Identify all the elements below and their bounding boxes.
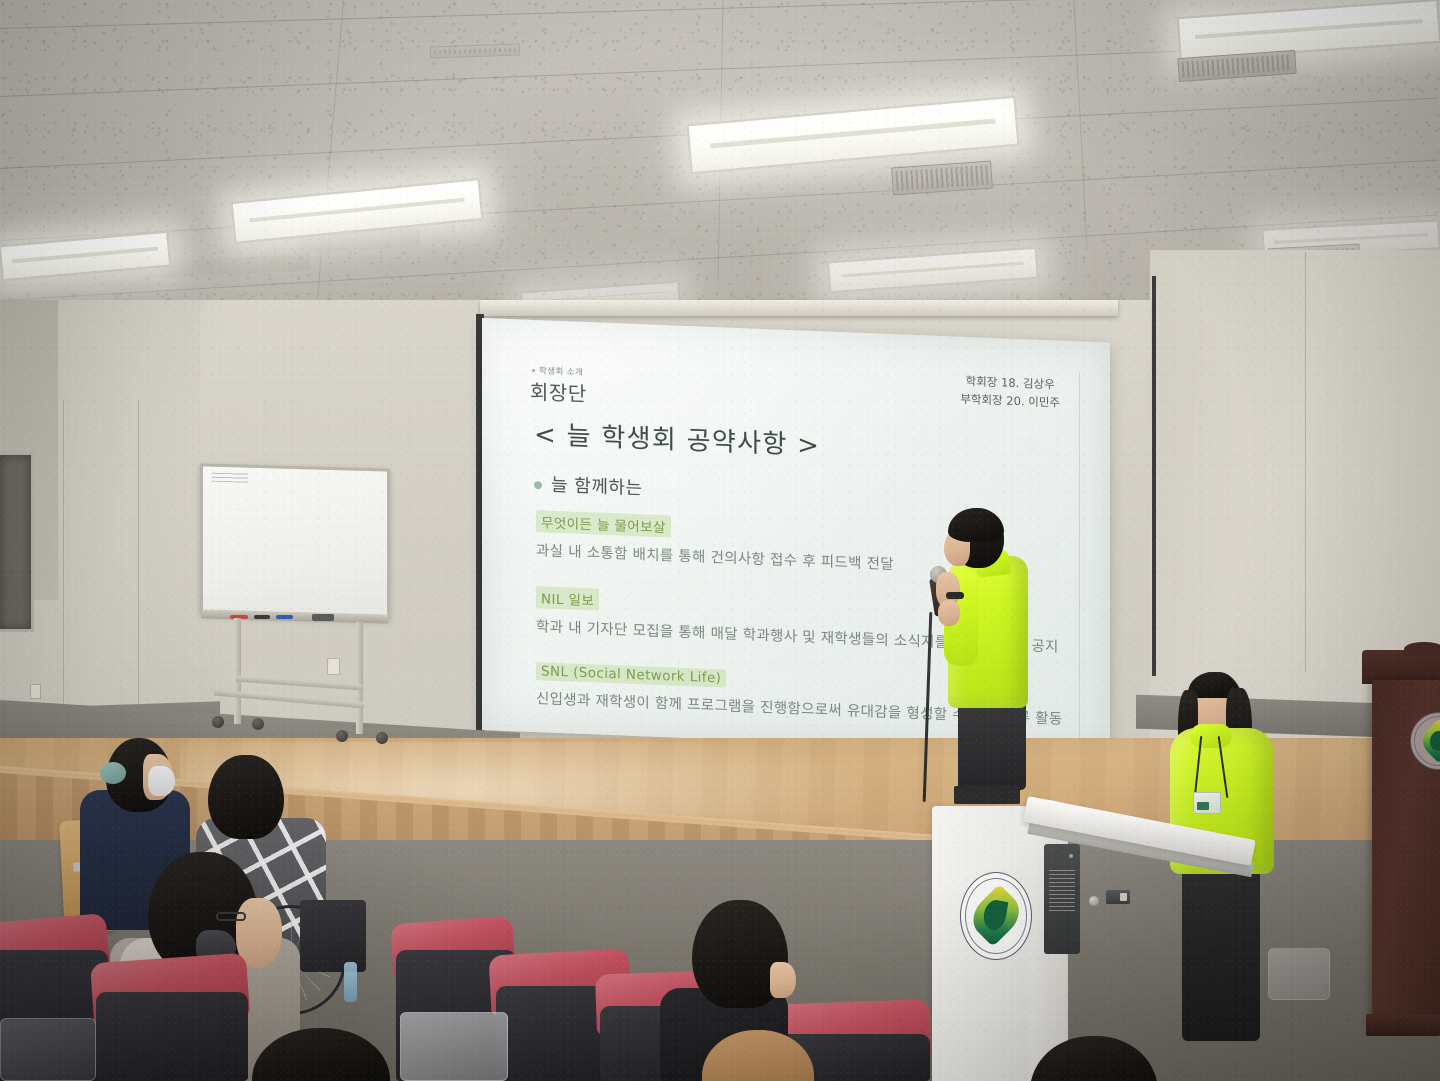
daegu-university-emblem [960, 872, 1032, 960]
slide-divider-rule [1079, 371, 1080, 745]
promise-heading: 무엇이든 늘 물어보살 [536, 510, 671, 537]
audience-head [208, 755, 284, 839]
screen-roller-housing [480, 300, 1118, 316]
podium-university-emblem [960, 872, 1032, 960]
lectern-base [1366, 1014, 1440, 1036]
water-bottle[interactable] [344, 962, 357, 1002]
audience-neck [770, 962, 796, 998]
whiteboard-surface[interactable] [200, 463, 390, 620]
podium-power-switch[interactable] [1106, 890, 1130, 904]
mobile-whiteboard[interactable] [196, 466, 392, 766]
whiteboard-marker[interactable] [276, 615, 293, 619]
promise-body: 과실 내 소통함 배치를 통해 건의사항 접수 후 피드백 전달 [536, 539, 894, 574]
promise-heading: NIL 일보 [536, 586, 599, 610]
wheelchair-frame [300, 900, 366, 972]
face-mask [148, 766, 175, 796]
bullet-circle-icon [534, 481, 542, 489]
wristwatch [946, 592, 964, 599]
wooden-lectern[interactable] [1358, 650, 1440, 1050]
auditorium-seat-back [96, 992, 248, 1081]
wall-seam [63, 400, 64, 750]
eyeglasses-icon [216, 912, 246, 921]
lectern-top-shelf [1362, 650, 1440, 684]
wall-seam [1152, 276, 1156, 676]
presenter-male-hand [938, 600, 960, 626]
whiteboard-stand-leg [356, 622, 363, 734]
whiteboard-caster [336, 730, 348, 742]
wall-seam [138, 400, 139, 740]
whiteboard-eraser[interactable] [312, 614, 334, 621]
promise-heading: SNL (Social Network Life) [536, 662, 726, 687]
presenter-female-collar [1190, 724, 1232, 748]
plastic-bag[interactable] [400, 1012, 508, 1081]
slide-promise-item: 무엇이든 늘 물어보살 과실 내 소통함 배치를 통해 건의사항 접수 후 피드… [536, 510, 894, 574]
whiteboard-writing [212, 473, 248, 483]
podium-key-lock[interactable] [1089, 896, 1099, 906]
auditorium-presentation-photo: 학생회 소개 회장단 학회장 18. 김상우 부학회장 20. 이민주 < 늘 … [0, 0, 1440, 1081]
whiteboard-stand-leg [234, 618, 241, 724]
whiteboard-marker[interactable] [254, 615, 270, 619]
whiteboard-stand-crossbar [236, 676, 362, 691]
bullet-dot-icon [532, 369, 535, 372]
name-badge [1193, 792, 1221, 814]
slide-department-title: 회장단 [530, 376, 587, 407]
lectern-university-emblem [1410, 712, 1440, 770]
whiteboard-caster [212, 716, 224, 728]
wall-seam [1305, 252, 1306, 672]
presenter-female-trousers [1182, 866, 1260, 1041]
podium-ventilation-grille [1044, 844, 1080, 954]
window [0, 452, 34, 632]
slide-name-vice-president: 부학회장 20. 이민주 [960, 391, 1060, 413]
plastic-bag[interactable] [1268, 948, 1330, 1000]
slide-presenter-names: 학회장 18. 김상우 부학회장 20. 이민주 [960, 373, 1060, 413]
slide-main-title: < 늘 학생회 공약사항 > [534, 414, 820, 462]
podium-monitor-back [954, 786, 1020, 804]
whiteboard-caster [376, 732, 388, 744]
slide-section-bullet: 늘 함께하는 [534, 470, 643, 500]
whiteboard-caster [252, 718, 264, 730]
daegu-university-emblem [1410, 712, 1440, 770]
podium-power-led-icon [1069, 854, 1073, 858]
wall-power-outlet[interactable] [30, 684, 41, 699]
hair-scrunchie [100, 762, 126, 784]
slide-section-bullet-text: 늘 함께하는 [551, 475, 643, 500]
presenter-male-trousers [958, 700, 1026, 790]
plastic-bag[interactable] [0, 1018, 96, 1081]
